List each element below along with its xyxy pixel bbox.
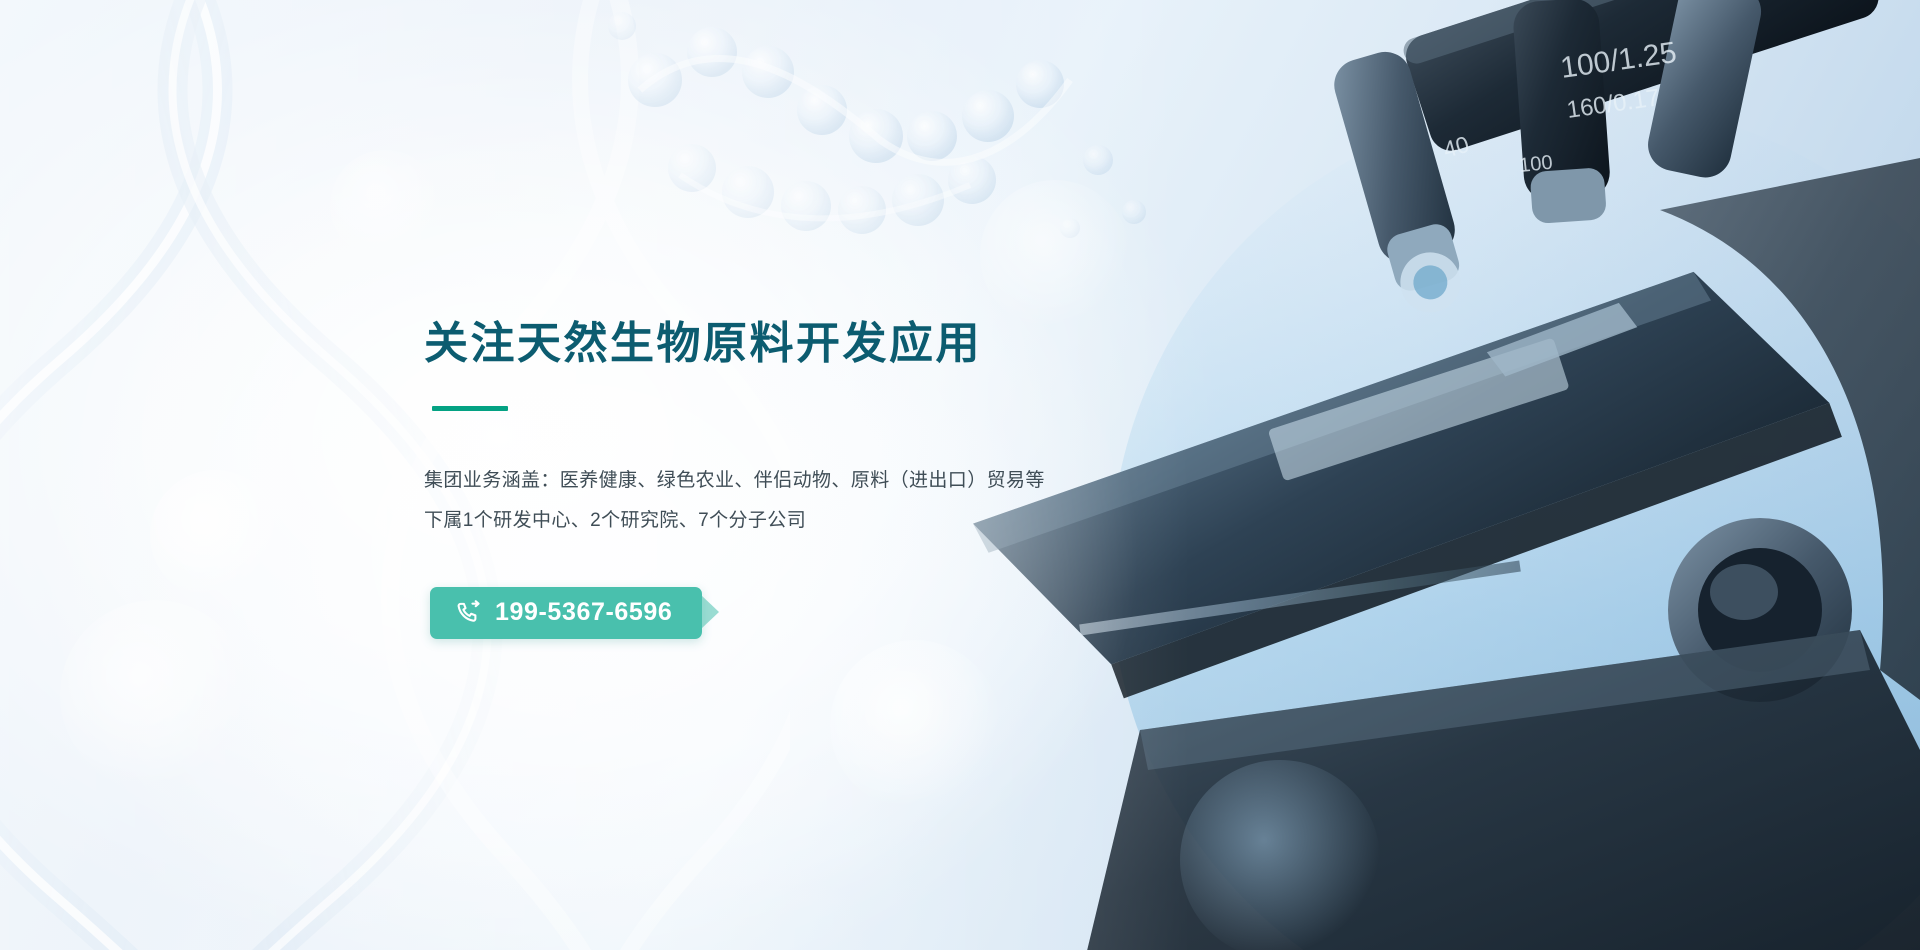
phone-cta-button[interactable]: 199-5367-6596 — [430, 587, 702, 639]
phone-forward-icon — [456, 600, 482, 626]
page-title: 关注天然生物原料开发应用 — [424, 318, 1184, 370]
hero-content: 关注天然生物原料开发应用 集团业务涵盖：医养健康、绿色农业、伴侣动物、原料（进出… — [424, 318, 1184, 639]
hero-banner: 100/1.25 160/0.17 40 100 — [0, 0, 1920, 950]
description-line-2: 下属1个研发中心、2个研究院、7个分子公司 — [424, 501, 1184, 541]
svg-text:100: 100 — [1518, 152, 1553, 177]
phone-number-label: 199-5367-6596 — [495, 600, 672, 625]
hero-description: 集团业务涵盖：医养健康、绿色农业、伴侣动物、原料（进出口）贸易等 下属1个研发中… — [424, 461, 1184, 541]
description-line-1: 集团业务涵盖：医养健康、绿色农业、伴侣动物、原料（进出口）贸易等 — [424, 461, 1184, 501]
accent-divider — [432, 406, 508, 411]
